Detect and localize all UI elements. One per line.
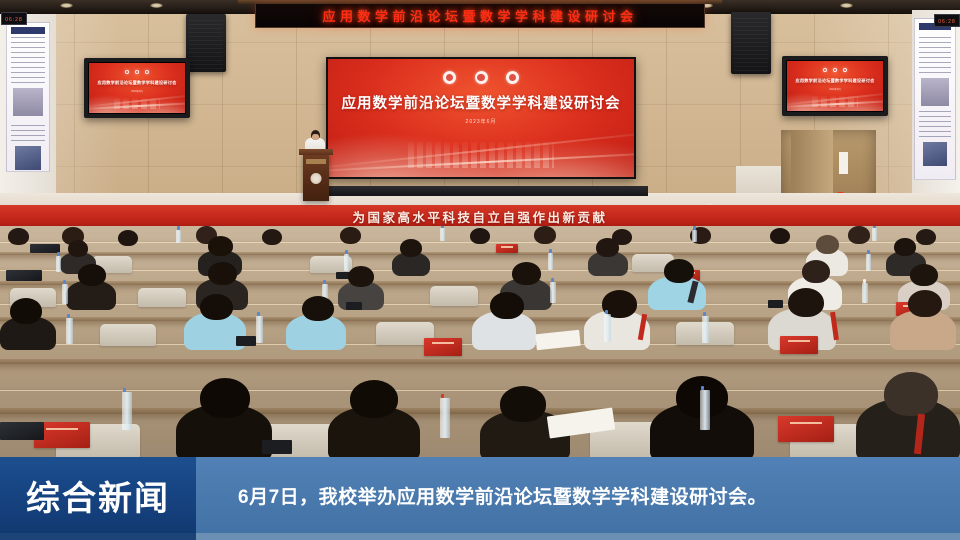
main-screen-title: 应用数学前沿论坛暨数学学科建设研讨会 [328,92,634,113]
emblem-icon [506,71,519,84]
wall-poster-right [914,18,956,180]
side-monitor-left: 应用数学前沿论坛暨数学学科建设研讨会 2023年6月 [84,58,190,118]
audience-area [0,226,960,457]
caption-footer-right [196,533,960,540]
right-monitor-logos [787,68,883,72]
led-clock-left: 06:28 [1,12,27,25]
right-monitor-title: 应用数学前沿论坛暨数学学科建设研讨会 [787,78,883,84]
left-monitor-date: 2023年6月 [89,89,185,93]
left-monitor-logos [89,70,185,74]
emblem-icon [145,70,149,74]
led-banner-text: 应用数学前沿论坛暨数学学科建设研讨会 [322,6,637,25]
speaker-box-right [731,12,771,74]
emblem-icon [843,68,847,72]
main-screen-date: 2023年6月 [328,118,634,125]
podium [303,153,329,201]
left-monitor-title: 应用数学前沿论坛暨数学学科建设研讨会 [89,80,185,86]
caption-body: 6月7日，我校举办应用数学前沿论坛暨数学学科建设研讨会。 [196,457,960,533]
desk-row [0,390,960,414]
emblem-icon [125,70,129,74]
side-monitor-right: 应用数学前沿论坛暨数学学科建设研讨会 2023年6月 [782,56,888,116]
caption-bar: 综合新闻 6月7日，我校举办应用数学前沿论坛暨数学学科建设研讨会。 [0,457,960,540]
emblem-icon [135,70,139,74]
led-clock-right-text: 06:28 [935,19,959,25]
emblem-icon [475,71,488,84]
category-tag-label: 综合新闻 [26,471,170,520]
university-emblem-icon [311,173,322,184]
caption-headline: 6月7日，我校举办应用数学前沿论坛暨数学学科建设研讨会。 [238,482,767,509]
right-monitor-screen: 应用数学前沿论坛暨数学学科建设研讨会 2023年6月 [787,61,883,111]
led-banner: 应用数学前沿论坛暨数学学科建设研讨会 [255,3,705,28]
led-clock-left-text: 06:28 [2,17,26,23]
speaker-box-left [186,14,226,72]
category-tag: 综合新闻 [0,457,196,533]
stage-step [318,186,648,196]
screenshot-root: 06:28 06:28 应用数学前沿论坛暨数学学科建设研讨会 应 [0,0,960,540]
main-stage-screen: 应用数学前沿论坛暨数学学科建设研讨会 2023年6月 [326,57,636,179]
conference-photo: 06:28 06:28 应用数学前沿论坛暨数学学科建设研讨会 应 [0,0,960,457]
presenter-face [312,134,319,140]
right-monitor-date: 2023年6月 [787,87,883,91]
stage-front-banner-text: 为国家高水平科技自立自强作出新贡献 [0,207,960,226]
caption-footer-left [0,533,196,540]
left-monitor-screen: 应用数学前沿论坛暨数学学科建设研讨会 2023年6月 [89,63,185,113]
main-screen-logos [328,71,634,84]
led-clock-right: 06:28 [934,14,960,27]
door-sign [839,152,848,174]
main-screen-content: 应用数学前沿论坛暨数学学科建设研讨会 2023年6月 [328,59,634,177]
emblem-icon [443,71,456,84]
emblem-icon [833,68,837,72]
emblem-icon [823,68,827,72]
wall-poster-left [6,22,50,172]
